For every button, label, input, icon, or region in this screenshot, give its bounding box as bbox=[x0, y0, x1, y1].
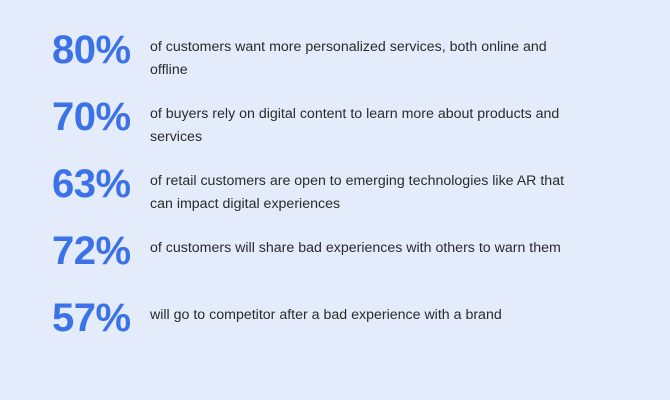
list-item: 72% of customers will share bad experien… bbox=[0, 231, 670, 298]
list-item: 70% of buyers rely on digital content to… bbox=[0, 97, 670, 164]
stat-description: of buyers rely on digital content to lea… bbox=[150, 103, 580, 148]
stat-description: of retail customers are open to emerging… bbox=[150, 170, 580, 215]
stat-description: will go to competitor after a bad experi… bbox=[150, 304, 580, 327]
stat-percentage: 72% bbox=[52, 231, 144, 271]
stat-percentage: 57% bbox=[52, 298, 144, 338]
list-item: 63% of retail customers are open to emer… bbox=[0, 164, 670, 231]
stat-percentage: 80% bbox=[52, 30, 144, 70]
stat-description: of customers will share bad experiences … bbox=[150, 237, 580, 260]
stat-percentage: 63% bbox=[52, 164, 144, 204]
statistics-infographic: 80% of customers want more personalized … bbox=[0, 0, 670, 400]
list-item: 57% will go to competitor after a bad ex… bbox=[0, 298, 670, 365]
list-item: 80% of customers want more personalized … bbox=[0, 30, 670, 97]
stat-percentage: 70% bbox=[52, 97, 144, 137]
statistics-list: 80% of customers want more personalized … bbox=[0, 30, 670, 365]
stat-description: of customers want more personalized serv… bbox=[150, 36, 580, 81]
